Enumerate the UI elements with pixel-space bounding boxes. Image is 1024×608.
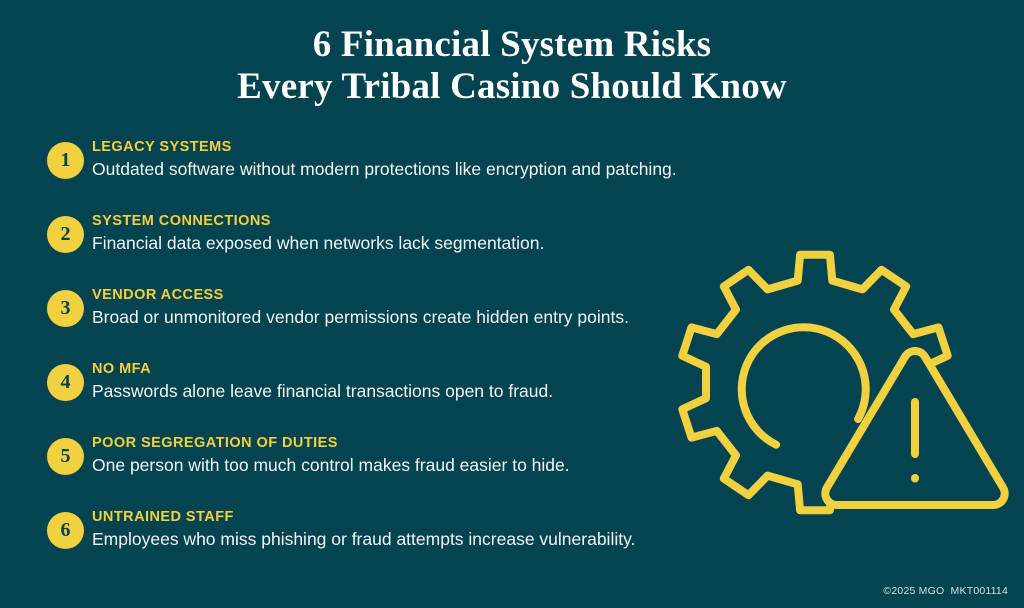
risk-text-block: VENDOR ACCESS Broad or unmonitored vendo… — [92, 286, 722, 329]
risk-item-5: 5 POOR SEGREGATION OF DUTIES One person … — [47, 434, 727, 508]
risk-description: Financial data exposed when networks lac… — [92, 231, 722, 255]
risk-description: Broad or unmonitored vendor permissions … — [92, 305, 722, 329]
risk-description: Outdated software without modern protect… — [92, 157, 722, 181]
risk-heading: UNTRAINED STAFF — [92, 508, 722, 527]
risk-heading: LEGACY SYSTEMS — [92, 138, 722, 157]
risk-text-block: UNTRAINED STAFF Employees who miss phish… — [92, 508, 722, 551]
risk-text-block: SYSTEM CONNECTIONS Financial data expose… — [92, 212, 722, 255]
risk-heading: POOR SEGREGATION OF DUTIES — [92, 434, 722, 453]
risk-item-4: 4 NO MFA Passwords alone leave financial… — [47, 360, 727, 434]
footer-copyright: ©2025 MGO MKT001114 — [883, 585, 1008, 597]
infographic-canvas: 6 Financial System Risks Every Tribal Ca… — [0, 0, 1024, 608]
risk-number-badge: 3 — [47, 290, 84, 327]
risk-item-3: 3 VENDOR ACCESS Broad or unmonitored ven… — [47, 286, 727, 360]
risk-text-block: NO MFA Passwords alone leave financial t… — [92, 360, 722, 403]
title-line-1: 6 Financial System Risks — [0, 24, 1024, 66]
risk-item-6: 6 UNTRAINED STAFF Employees who miss phi… — [47, 508, 727, 582]
risk-list: 1 LEGACY SYSTEMS Outdated software witho… — [47, 138, 727, 582]
page-title: 6 Financial System Risks Every Tribal Ca… — [0, 24, 1024, 108]
risk-item-2: 2 SYSTEM CONNECTIONS Financial data expo… — [47, 212, 727, 286]
gear-warning-illustration — [672, 236, 1018, 528]
risk-number-badge: 2 — [47, 216, 84, 253]
risk-text-block: POOR SEGREGATION OF DUTIES One person wi… — [92, 434, 722, 477]
risk-description: Passwords alone leave financial transact… — [92, 379, 722, 403]
risk-description: One person with too much control makes f… — [92, 453, 722, 477]
title-line-2: Every Tribal Casino Should Know — [0, 66, 1024, 108]
risk-number-badge: 5 — [47, 438, 84, 475]
risk-number-badge: 6 — [47, 512, 84, 549]
risk-heading: VENDOR ACCESS — [92, 286, 722, 305]
risk-heading: SYSTEM CONNECTIONS — [92, 212, 722, 231]
risk-description: Employees who miss phishing or fraud att… — [92, 527, 722, 551]
risk-item-1: 1 LEGACY SYSTEMS Outdated software witho… — [47, 138, 727, 212]
risk-heading: NO MFA — [92, 360, 722, 379]
risk-text-block: LEGACY SYSTEMS Outdated software without… — [92, 138, 722, 181]
risk-number-badge: 4 — [47, 364, 84, 401]
risk-number-badge: 1 — [47, 142, 84, 179]
